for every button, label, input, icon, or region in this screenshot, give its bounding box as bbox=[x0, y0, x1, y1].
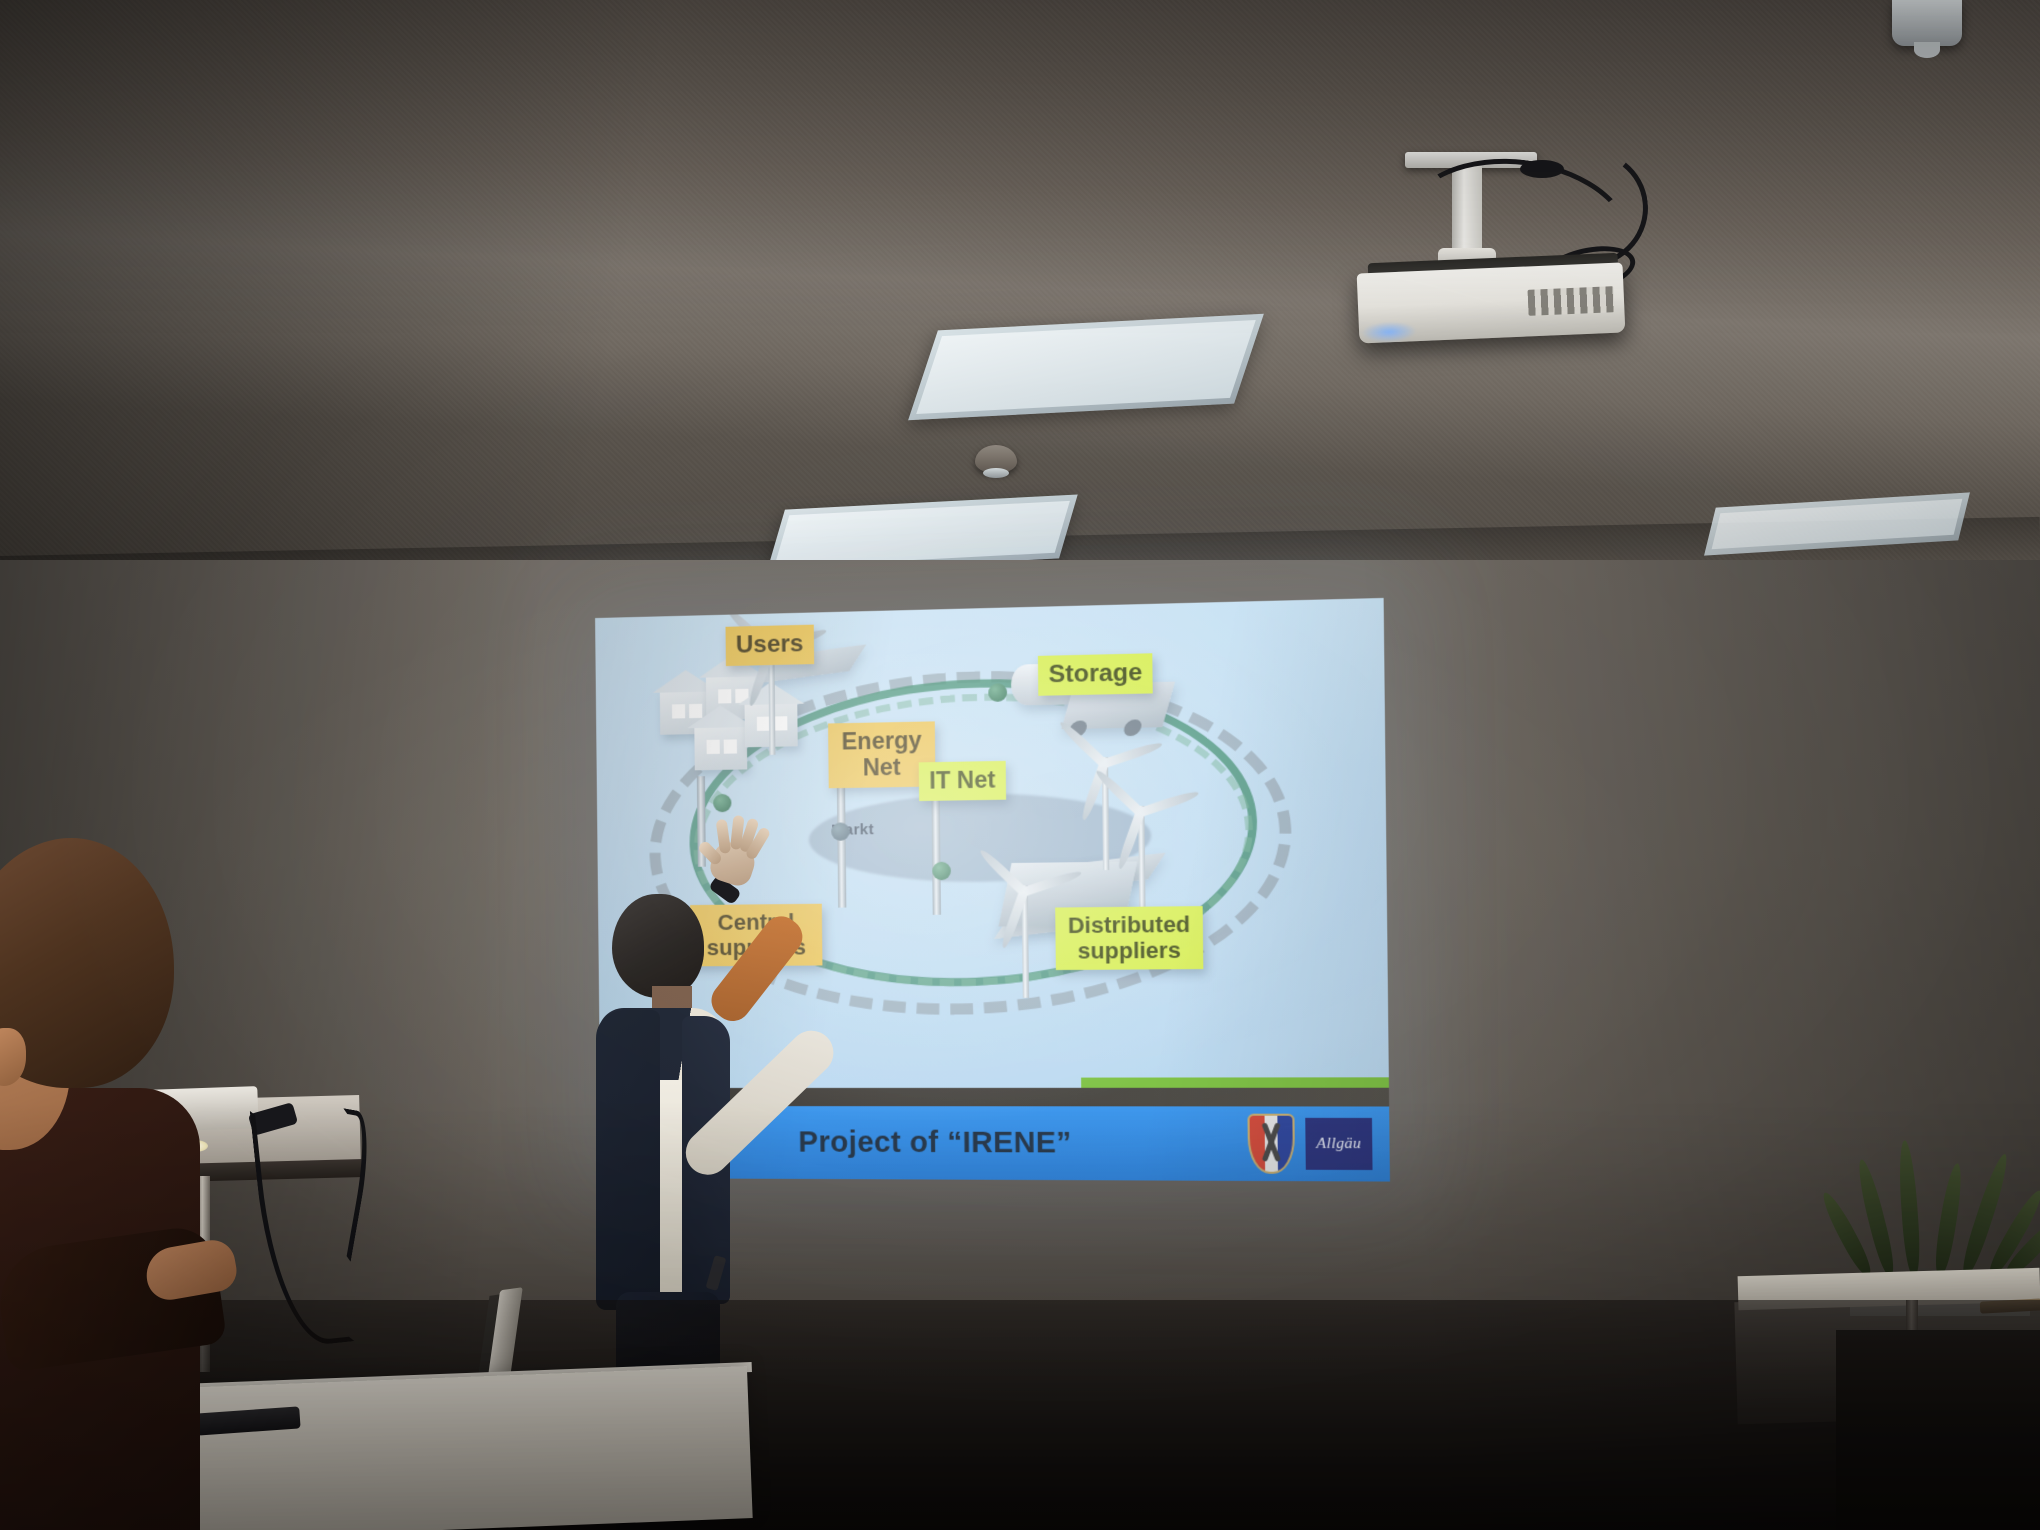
label-storage: Storage bbox=[1038, 653, 1153, 695]
label-distributed-line1: Distributed bbox=[1066, 912, 1193, 938]
pylon-2 bbox=[837, 788, 846, 908]
label-distributed-line2: suppliers bbox=[1066, 938, 1193, 964]
projector-lens-glow bbox=[1362, 321, 1417, 343]
presenter-head bbox=[612, 894, 704, 998]
slide-footer-logos: Allgäu bbox=[1247, 1114, 1372, 1175]
coat-of-arms-icon bbox=[1247, 1114, 1295, 1174]
presenter-vest-left bbox=[596, 1010, 660, 1310]
projector-ports bbox=[1527, 286, 1614, 316]
projector-cable-knob bbox=[1520, 160, 1564, 178]
label-users: Users bbox=[726, 625, 814, 666]
room-scene: Markt bbox=[0, 0, 2040, 1530]
allgaeu-logo: Allgäu bbox=[1305, 1118, 1372, 1170]
label-it-net: IT Net bbox=[919, 761, 1006, 801]
seated-attendee-foreground bbox=[0, 838, 260, 1530]
attendee-head bbox=[0, 838, 174, 1088]
label-energy-net-line2: Net bbox=[839, 754, 925, 782]
label-energy-net-line1: Energy bbox=[838, 728, 924, 756]
light-panel-1 bbox=[908, 314, 1264, 421]
pylon-3 bbox=[931, 782, 941, 914]
ceiling-shadow bbox=[0, 0, 760, 600]
smoke-detector-icon bbox=[975, 445, 1017, 473]
label-distributed-suppliers: Distributed suppliers bbox=[1055, 906, 1203, 970]
network-node-3 bbox=[932, 862, 951, 881]
ceiling-sprinkler-icon bbox=[1892, 0, 1962, 46]
house-icon-4 bbox=[694, 725, 747, 770]
